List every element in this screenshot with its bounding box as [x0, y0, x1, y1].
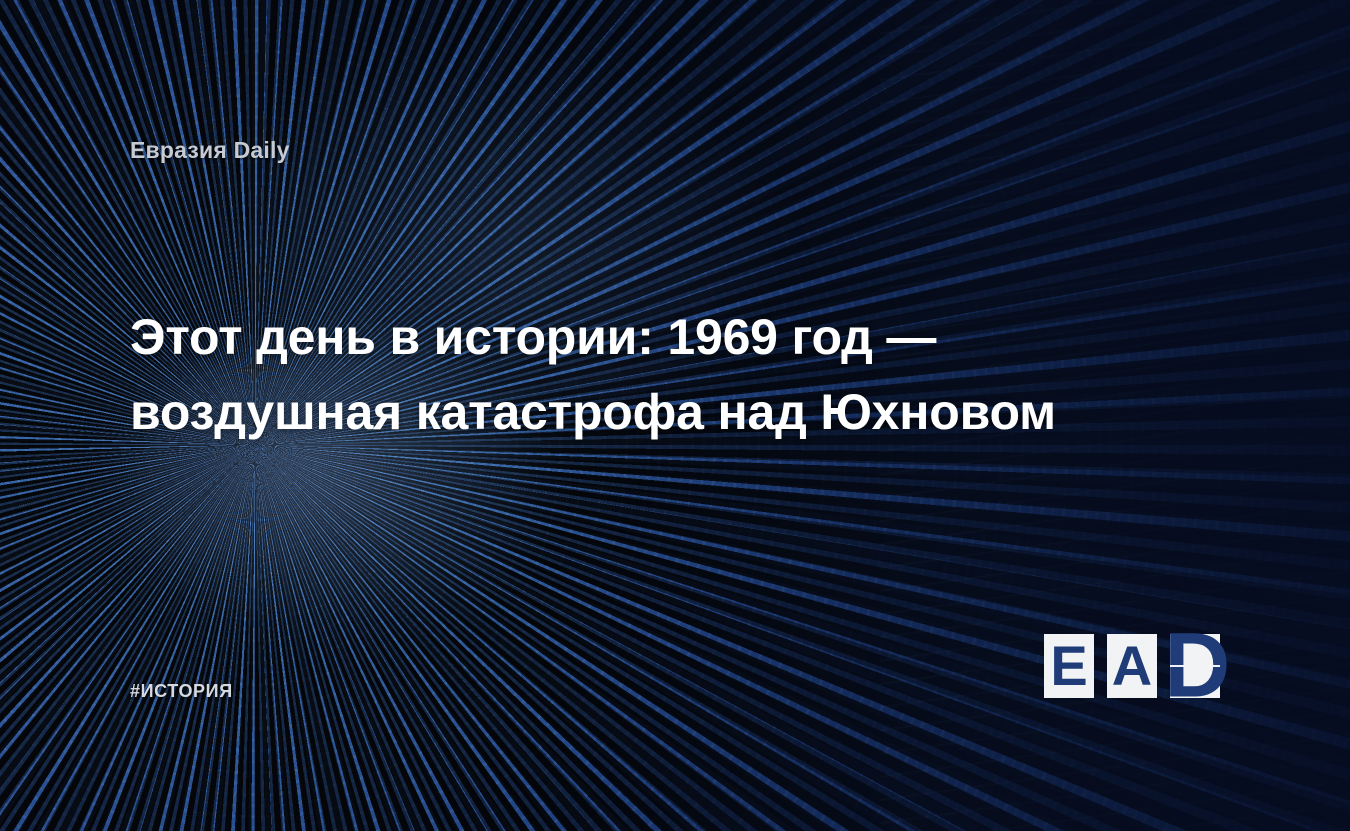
logo-letter-a-plate: A [1107, 634, 1157, 698]
publisher-name: Евразия Daily [130, 137, 290, 164]
category-tag[interactable]: #ИСТОРИЯ [130, 681, 233, 702]
logo-letter-d-plate: D [1170, 634, 1220, 698]
logo-letter-e: E [1044, 638, 1094, 694]
share-card: Евразия Daily Этот день в истории: 1969 … [0, 0, 1350, 831]
page-title: Этот день в истории: 1969 год — воздушна… [130, 300, 1190, 450]
card-content: Евразия Daily Этот день в истории: 1969 … [0, 0, 1350, 831]
logo-letter-e-plate: E [1044, 634, 1094, 698]
eadaily-logo[interactable]: E A D [1044, 634, 1220, 698]
logo-letter-d-seam [1170, 665, 1220, 667]
logo-letter-a: A [1107, 638, 1157, 694]
